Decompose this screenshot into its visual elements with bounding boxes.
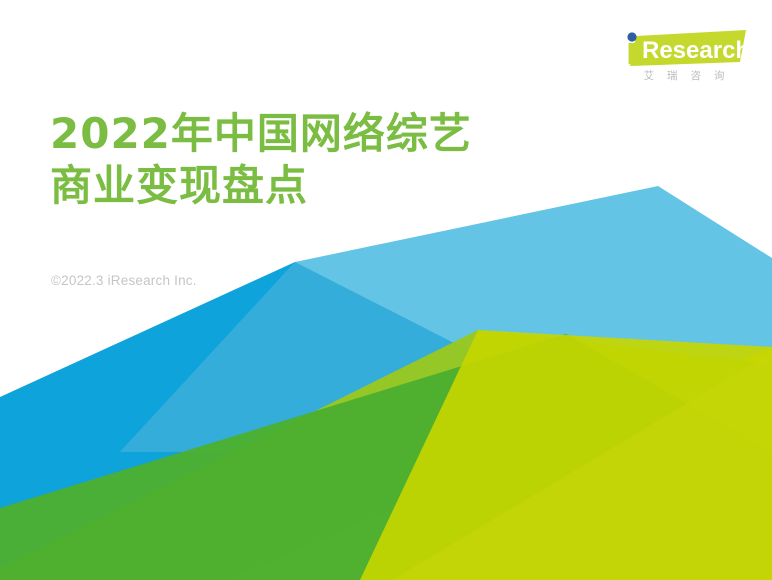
logo-i-stem-shape [629, 43, 636, 64]
iresearch-logo: Research 艾 瑞 咨 询 [622, 28, 746, 86]
page-title: 2022年中国网络综艺 商业变现盘点 [50, 108, 610, 212]
presentation-cover-slide: Research 艾 瑞 咨 询 2022年中国网络综艺 商业变现盘点 ©202… [0, 0, 772, 580]
page-title-line-1: 2022年中国网络综艺 [50, 108, 610, 160]
page-title-line-2: 商业变现盘点 [50, 160, 610, 212]
copyright-notice: ©2022.3 iResearch Inc. [51, 273, 197, 288]
background-geometric-art [0, 0, 772, 580]
logo-wordmark-text: Research [642, 37, 746, 64]
logo-subtitle: 艾 瑞 咨 询 [622, 68, 746, 83]
iresearch-logo-mark: Research [622, 28, 746, 66]
logo-i-dot-shape [627, 32, 636, 41]
